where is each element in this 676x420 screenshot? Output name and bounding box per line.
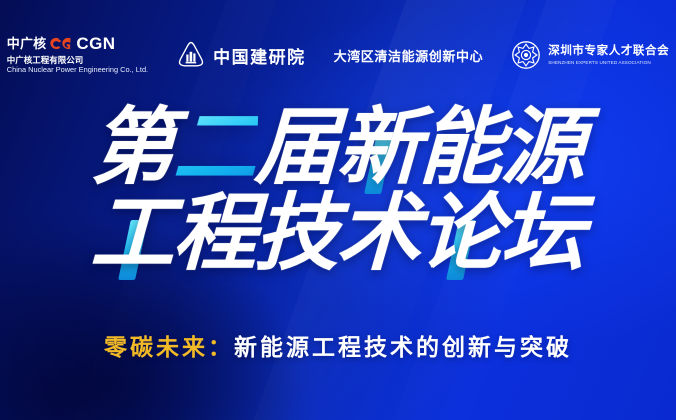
subtitle-rest: 新能源工程技术的创新与突破 [234, 335, 572, 361]
title-char: 技 [254, 194, 341, 274]
sz-star-emblem-icon [511, 40, 541, 70]
organizer-logo-bar: 中广核 CGN 中广核工程有限公司 China Nuclear Power En… [0, 26, 676, 84]
cgn-swirl-icon [48, 36, 74, 51]
title-char: 坛 [500, 194, 587, 274]
title-char: 新 [336, 108, 423, 188]
logo-cabr: 中国建研院 [162, 40, 320, 70]
title-line-1: 第 二 届 新 能 源 [92, 108, 584, 188]
title-char: 工 [90, 194, 177, 274]
title-char: 第 [90, 108, 177, 188]
title-char: 届 [254, 108, 341, 188]
title-char: 能 [418, 108, 505, 188]
subtitle-highlight: 零碳未来： [104, 335, 234, 361]
main-title: 第 二 届 新 能 源 工 程 技 术 论 坛 [0, 108, 676, 274]
sz-name-en: SHENZHEN EXPERTS UNITED ASSOCIATION [548, 60, 669, 65]
title-line-2: 工 程 技 术 论 坛 [92, 194, 584, 274]
title-char: 二 [172, 108, 259, 188]
cabr-name: 中国建研院 [213, 43, 306, 68]
logo-shenzhen-experts: 深圳市专家人才联合会 SHENZHEN EXPERTS UNITED ASSOC… [497, 40, 676, 70]
title-char: 源 [500, 108, 587, 188]
cgn-company-en: China Nuclear Power Engineering Co., Ltd… [7, 66, 148, 75]
cgn-chinese-name: 中广核 [7, 37, 47, 50]
title-char: 论 [418, 194, 505, 274]
title-char: 程 [172, 194, 259, 274]
sz-name-cn: 深圳市专家人才联合会 [548, 45, 669, 58]
logo-cgn: 中广核 CGN 中广核工程有限公司 China Nuclear Power En… [0, 35, 162, 76]
cabr-shield-icon [176, 40, 206, 70]
gba-center-name: 大湾区清洁能源创新中心 [334, 46, 484, 65]
event-subtitle: 零碳未来：新能源工程技术的创新与突破 [0, 328, 676, 362]
cgn-english-abbr: CGN [76, 35, 115, 52]
event-banner: 中广核 CGN 中广核工程有限公司 China Nuclear Power En… [0, 0, 676, 420]
cgn-company-cn: 中广核工程有限公司 [7, 55, 148, 66]
logo-gba-center: 大湾区清洁能源创新中心 [320, 46, 498, 65]
title-char: 术 [336, 194, 423, 274]
